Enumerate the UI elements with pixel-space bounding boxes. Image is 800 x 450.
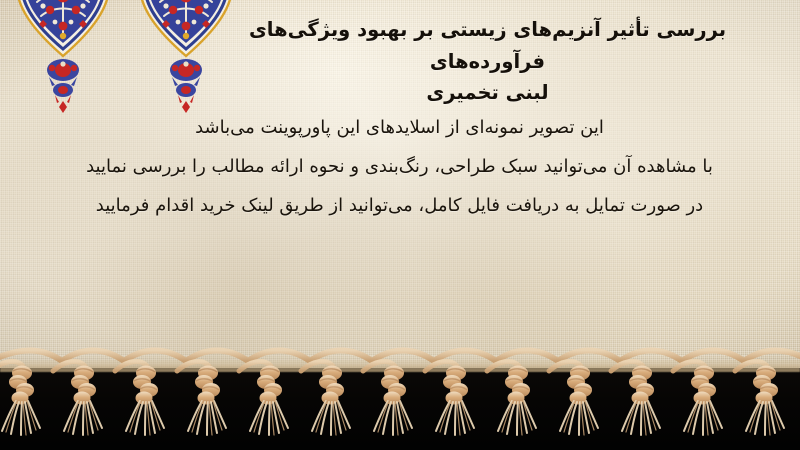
slide-body: این تصویر نمونه‌ای از اسلایدهای این پاور…	[27, 108, 772, 226]
slide-body-line-2: با مشاهده آن می‌توانید سبک طراحی، رنگ‌بن…	[27, 147, 772, 186]
presentation-slide: بررسی تأثیر آنزیم‌های زیستی بر بهبود ویژ…	[0, 0, 800, 450]
slide-body-line-1: این تصویر نمونه‌ای از اسلایدهای این پاور…	[27, 108, 772, 147]
bottom-black-band	[0, 368, 800, 450]
slide-body-line-3: در صورت تمایل به دریافت فایل کامل، می‌تو…	[27, 186, 772, 225]
slide-title: بررسی تأثیر آنزیم‌های زیستی بر بهبود ویژ…	[195, 14, 780, 109]
slide-title-line-1: بررسی تأثیر آنزیم‌های زیستی بر بهبود ویژ…	[195, 14, 780, 77]
canvas-band-edge	[0, 358, 800, 372]
slide-title-line-2: لبنی تخمیری	[195, 77, 780, 109]
